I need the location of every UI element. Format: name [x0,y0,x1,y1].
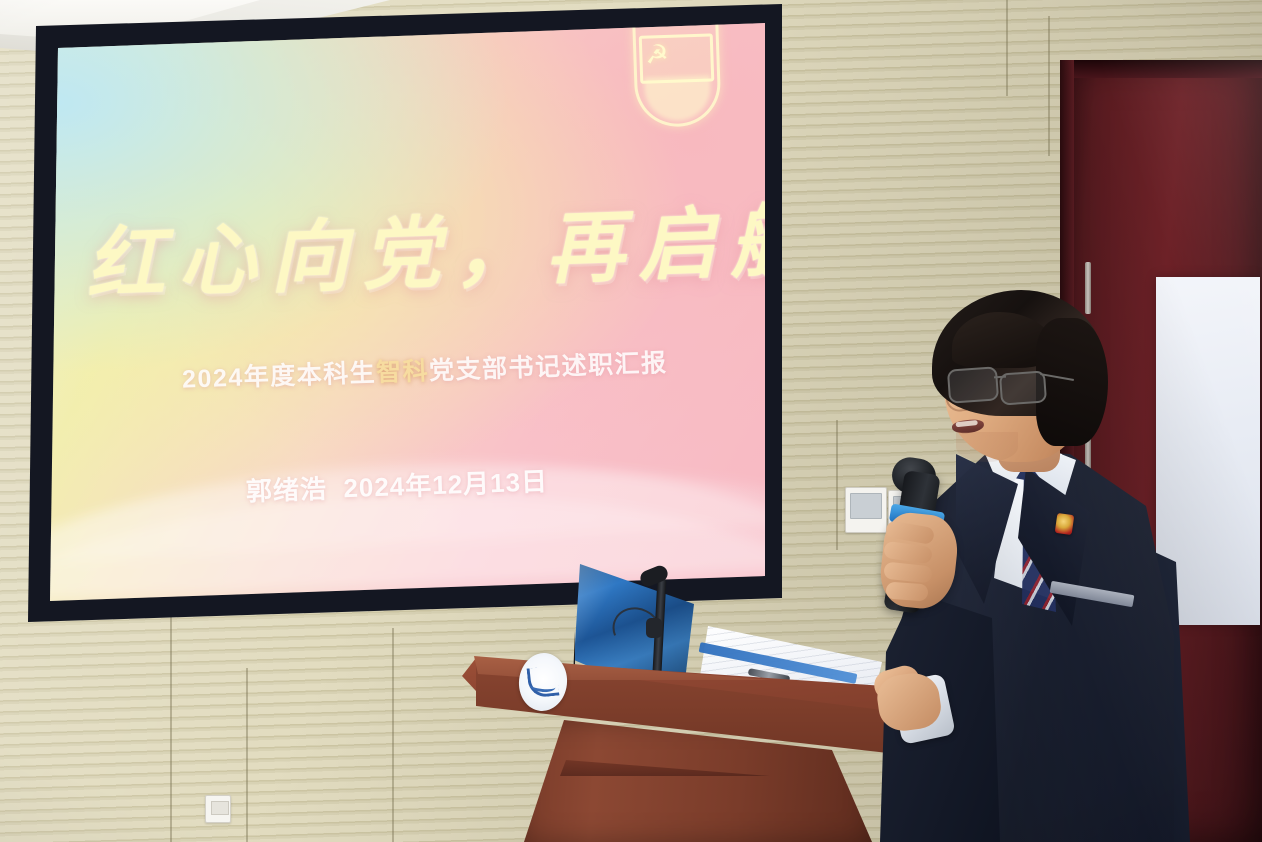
photo-scene: ☭ 红心向党，再启航 2024年度本科生智科党支部书记述职汇报 郭绪浩 2024… [0,0,1262,842]
slide-presenter-name: 郭绪浩 [245,474,327,507]
slide-subtitle-highlight: 智科 [376,357,430,387]
slide-date: 2024年12月13日 [343,466,549,503]
presentation-slide: ☭ 红心向党，再启航 2024年度本科生智科党支部书记述职汇报 郭绪浩 2024… [28,4,782,622]
wall-seam [1048,16,1050,156]
wall-seam [836,420,838,550]
cpc-party-flag-emblem-icon: ☭ [632,17,722,128]
slide-subtitle-suffix: 党支部书记述职汇报 [429,349,668,385]
hammer-sickle-icon: ☭ [645,41,669,68]
wall-seam [392,628,394,842]
party-member-lapel-badge-icon [1055,513,1075,535]
wall-seam [1006,0,1008,96]
wall-light-switch[interactable] [205,795,231,823]
slide-title: 红心向党，再启航 [84,181,727,315]
presenter-hair-side [1036,318,1108,446]
presenter-chin [956,432,1018,462]
presenter [860,292,1190,842]
projection-screen: ☭ 红心向党，再启航 2024年度本科生智科党支部书记述职汇报 郭绪浩 2024… [28,4,782,622]
slide-subtitle: 2024年度本科生智科党支部书记述职汇报 [181,341,742,396]
slide-subtitle-prefix: 2024年度本科生 [182,359,377,394]
wall-seam [170,608,172,842]
slide-presenter-and-date: 郭绪浩 2024年12月13日 [245,455,726,508]
finger [885,582,928,602]
eyeglasses-right-lens-icon [999,370,1047,405]
gooseneck-microphone-joint [646,618,662,638]
wall-seam [246,668,248,842]
eyeglasses-left-lens-icon [947,366,999,403]
